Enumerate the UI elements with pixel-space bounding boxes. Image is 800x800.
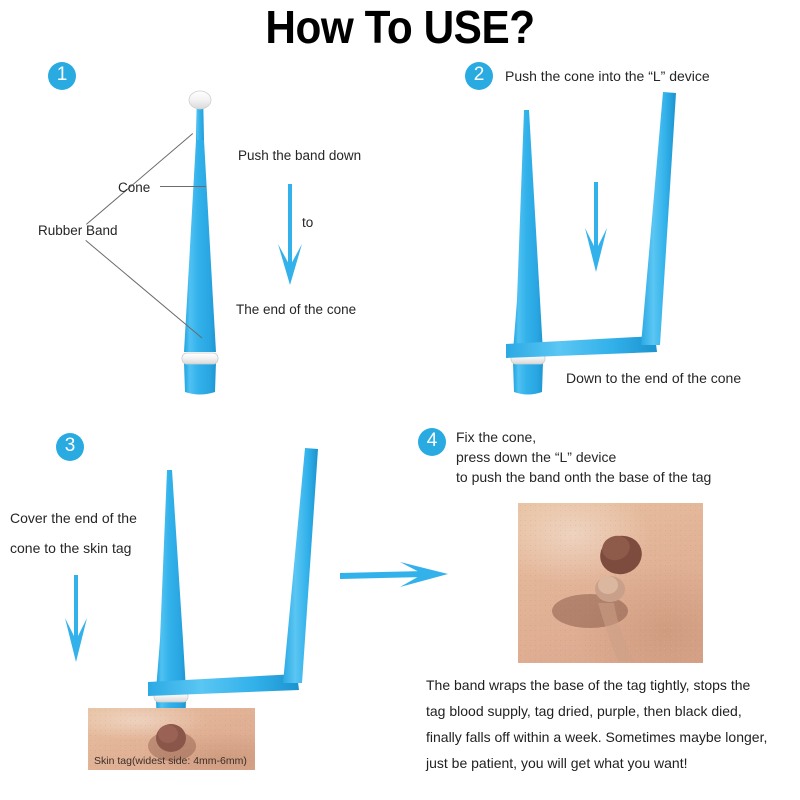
step-2-caption: Down to the end of the cone: [566, 368, 741, 388]
transition-right-arrow: [340, 562, 448, 587]
page-title: How To USE?: [32, 2, 768, 52]
step-3-instruction-line-2: cone to the skin tag: [10, 538, 131, 558]
step-4-paragraph-line-4: just be patient, you will get what you w…: [426, 750, 687, 776]
step-2-heading: Push the cone into the “L” device: [505, 66, 710, 86]
step-1-number: 1: [48, 61, 76, 89]
step-1-badge: 1: [48, 62, 76, 90]
step-4-result-photo: [518, 503, 703, 663]
leader-line-rubber-band-bottom: [85, 240, 202, 338]
step-3-instruction-line-1: Cover the end of the: [10, 508, 137, 528]
step-4-paragraph-line-3: finally falls off within a week. Sometim…: [426, 724, 767, 750]
label-to: to: [302, 213, 313, 233]
step-4-badge: 4: [418, 428, 446, 456]
step-2-badge: 2: [465, 62, 493, 90]
label-push-band-down: Push the band down: [238, 146, 361, 166]
step-2-down-arrow: [585, 182, 607, 272]
step-4-banded-tag-shape: [518, 503, 703, 663]
step-4-heading-line-1: Fix the cone,: [456, 427, 536, 447]
step-2-assembly-illustration: [506, 92, 676, 395]
step-4-paragraph-line-1: The band wraps the base of the tag tight…: [426, 672, 750, 698]
step-1-down-arrow: [278, 184, 302, 285]
step-3-skin-photo: Skin tag(widest side: 4mm-6mm): [88, 708, 255, 770]
step-3-photo-caption: Skin tag(widest side: 4mm-6mm): [94, 755, 247, 767]
label-cone: Cone: [118, 178, 150, 198]
step-3-assembly-illustration: [148, 448, 318, 733]
step-2-number: 2: [465, 61, 493, 89]
leader-line-cone: [160, 186, 206, 187]
label-rubber-band: Rubber Band: [38, 221, 118, 241]
step-3-number: 3: [56, 432, 84, 460]
label-end-of-cone: The end of the cone: [236, 300, 356, 320]
step-3-down-arrow: [65, 575, 87, 662]
step-4-heading-line-3: to push the band onth the base of the ta…: [456, 467, 711, 487]
step-4-paragraph-line-2: tag blood supply, tag dried, purple, the…: [426, 698, 742, 724]
instruction-poster: How To USE?: [0, 0, 800, 800]
step-4-heading-line-2: press down the “L” device: [456, 447, 616, 467]
step-3-badge: 3: [56, 433, 84, 461]
step-4-number: 4: [418, 427, 446, 455]
